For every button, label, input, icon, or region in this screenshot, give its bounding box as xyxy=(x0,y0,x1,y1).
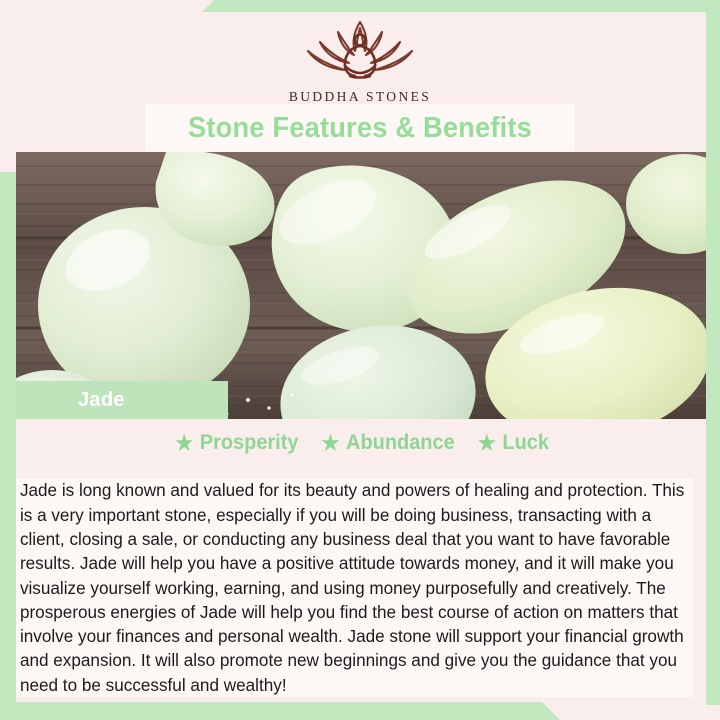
benefit-label: Luck xyxy=(502,431,549,455)
frame-accent-bottom xyxy=(0,702,560,720)
lotus-meditation-icon xyxy=(298,18,422,86)
benefit-item: ★ Prosperity xyxy=(175,431,298,455)
star-icon: ★ xyxy=(322,433,340,454)
jade-stones-image xyxy=(16,152,706,419)
stone-description: Jade is long known and valued for its be… xyxy=(16,478,694,697)
benefit-label: Abundance xyxy=(346,431,455,455)
benefit-label: Prosperity xyxy=(199,431,298,455)
page-title: Stone Features & Benefits xyxy=(188,112,532,145)
frame-accent-left xyxy=(0,172,16,720)
stone-name-tag: Jade xyxy=(16,381,228,419)
star-icon: ★ xyxy=(175,433,193,454)
benefit-item: ★ Abundance xyxy=(322,431,455,455)
star-icon: ★ xyxy=(477,433,495,454)
benefit-item: ★ Luck xyxy=(477,431,548,455)
brand-name: BUDDHA STONES xyxy=(0,89,720,105)
stone-name: Jade xyxy=(78,389,125,412)
stone-info-card: BUDDHA STONES Stone Features & Benefits xyxy=(0,0,720,720)
stone-photo xyxy=(16,152,706,419)
brand-logo: BUDDHA STONES xyxy=(0,18,720,105)
benefits-list: ★ Prosperity ★ Abundance ★ Luck xyxy=(16,431,706,455)
headline-banner: Stone Features & Benefits xyxy=(145,104,575,152)
frame-accent-right xyxy=(706,0,720,705)
